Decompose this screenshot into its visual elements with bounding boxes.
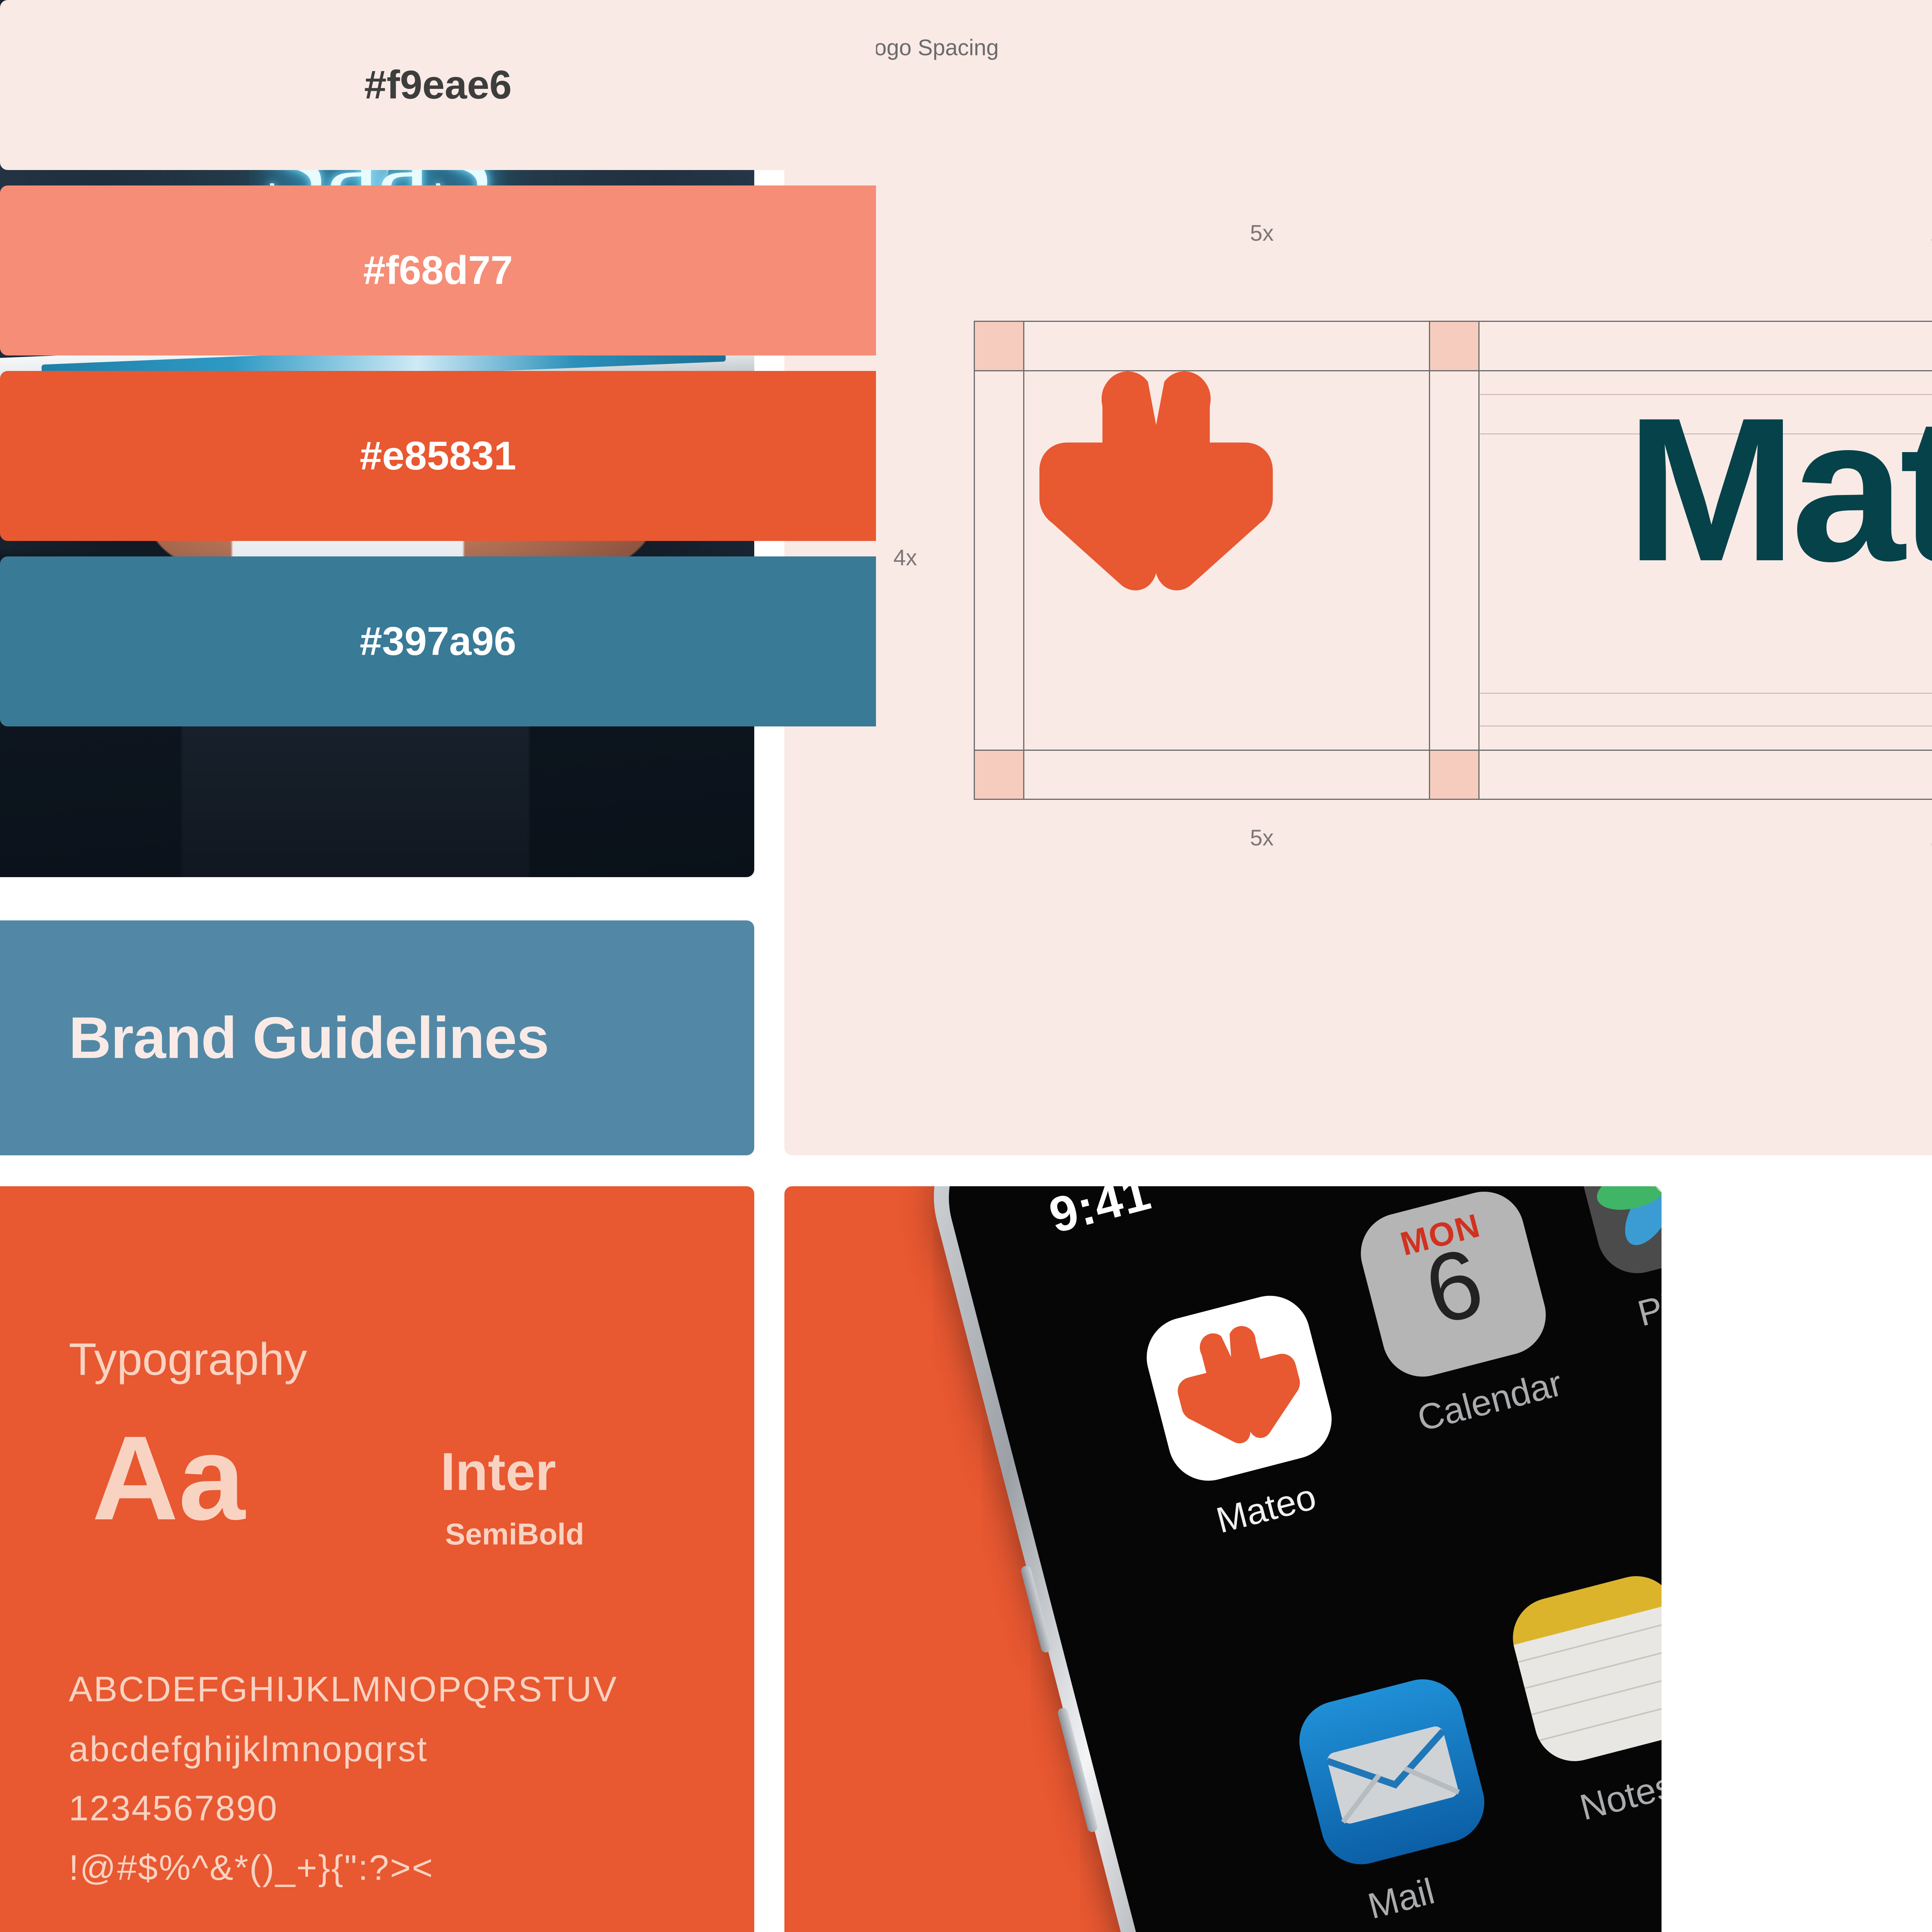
grid-line-left [974,321,975,800]
font-weight-name: SemiBold [445,1517,584,1552]
color-hex-label: #f9eae6 [364,62,512,108]
dim-label-left: 4x [893,545,917,571]
grid-line-inner-bottom [974,750,1932,751]
clearspace-swatch-top-mid [1429,321,1478,370]
app-label-notes: Notes [1576,1764,1662,1828]
iphone-screen: 9:41 Mateo MON 6 Calendar [930,1186,1662,1932]
iphone-device: 9:41 Mateo MON 6 Calendar [912,1186,1662,1932]
mateo-logo-mark [1039,370,1273,604]
clearspace-swatch-top-left [974,321,1023,370]
color-swatch: #e85831 [0,371,876,541]
color-hex-label: #f68d77 [363,248,513,294]
app-icon-mateo[interactable] [1138,1287,1340,1490]
type-sample-aa: Aa [92,1418,245,1538]
charset-lowercase: abcdefghijklmnopqrst [69,1729,428,1770]
color-swatch: #f68d77 [0,185,876,355]
dim-label-top-right: 10x [1930,220,1932,246]
grid-line-gutter-right [1478,321,1480,800]
app-icon-notes[interactable] [1504,1567,1662,1770]
grid-line-bottom [974,799,1932,800]
app-icon-mail[interactable] [1291,1670,1493,1873]
clearspace-swatch-bottom-mid [1429,750,1478,800]
typography-title: Typography [69,1333,307,1386]
app-label-mail: Mail [1364,1870,1439,1927]
status-bar-clock: 9:41 [1044,1186,1157,1244]
dim-label-bottom-left: 5x [1250,825,1274,851]
grid-line-inner-left [1023,321,1024,800]
notes-rule [1538,1698,1662,1742]
typography-panel: Typography Aa Inter SemiBold ABCDEFGHIJK… [0,1186,754,1932]
font-family-name: Inter [440,1441,556,1503]
notes-header-bar [1504,1567,1662,1645]
type-guide-xheight [1479,693,1932,694]
brand-guidelines-panel: Brand Guidelines [0,920,754,1155]
app-icon-calendar[interactable]: MON 6 [1352,1186,1554,1385]
wordmark-text: Mateo [1626,375,1932,604]
grid-line-top [974,321,1932,322]
mateo-wordmark: Mateo [1626,389,1932,590]
notes-rule [1524,1646,1662,1689]
charset-symbols: !@#$%^&*()_+}{":?>< [69,1848,434,1888]
charset-uppercase: ABCDEFGHIJKLMNOPQRSTUV [69,1669,618,1710]
app-label-photos: Ph [1634,1283,1662,1335]
section-label: Logo Spacing [862,35,999,61]
color-palette-panel: #f9eae6 #f68d77 #e85831 #397a96 [0,0,876,757]
notes-rule [1531,1672,1662,1716]
color-hex-label: #397a96 [360,619,516,665]
color-swatch: #397a96 [0,556,876,726]
page-title: Brand Guidelines [69,1004,549,1072]
clearspace-swatch-bottom-left [974,750,1023,800]
type-guide-baseline [1479,726,1932,726]
dim-label-bottom-right: 10x [1930,825,1932,851]
grid-line-gutter-left [1429,321,1430,800]
charset-numerals: 1234567890 [69,1788,278,1829]
phone-mockup-panel: 9:41 Mateo MON 6 Calendar [784,1186,1662,1932]
logo-spacing-panel: Logo Spacing 5x 10x 5x 10x 4x 4x [784,0,1932,1155]
color-swatch: #f9eae6 [0,0,876,170]
brand-guidelines-board: SaaS Brand Guideline [0,0,1932,1932]
app-icon-photos[interactable] [1567,1186,1662,1282]
color-hex-label: #e85831 [360,433,516,479]
app-label-mateo: Mateo [1212,1476,1320,1541]
dim-label-top-left: 5x [1250,220,1274,246]
